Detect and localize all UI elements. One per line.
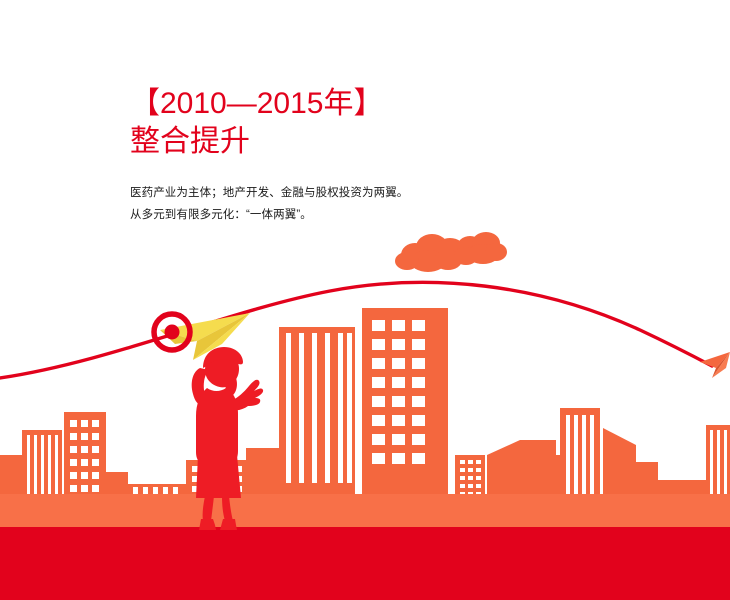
growth-arc bbox=[0, 282, 712, 378]
cloud-right bbox=[454, 232, 507, 265]
slide-canvas: 【2010—2015年】 整合提升 医药产业为主体；地产开发、金融与股权投资为两… bbox=[0, 0, 730, 600]
ground-band-orange bbox=[0, 494, 730, 528]
subtitle-block: 医药产业为主体；地产开发、金融与股权投资为两翼。 从多元到有限多元化：“一体两翼… bbox=[130, 182, 650, 226]
cloud-left bbox=[395, 234, 465, 272]
page-title-line1: 【2010—2015年】 bbox=[130, 86, 650, 122]
subtitle-line2: 从多元到有限多元化：“一体两翼”。 bbox=[130, 204, 650, 226]
ground-band-red bbox=[0, 527, 730, 600]
skyline-buildings bbox=[0, 308, 730, 500]
text-block: 【2010—2015年】 整合提升 医药产业为主体；地产开发、金融与股权投资为两… bbox=[130, 86, 650, 226]
subtitle-line1: 医药产业为主体；地产开发、金融与股权投资为两翼。 bbox=[130, 182, 650, 204]
paper-plane-right bbox=[700, 352, 730, 378]
page-title-line2: 整合提升 bbox=[130, 124, 650, 160]
